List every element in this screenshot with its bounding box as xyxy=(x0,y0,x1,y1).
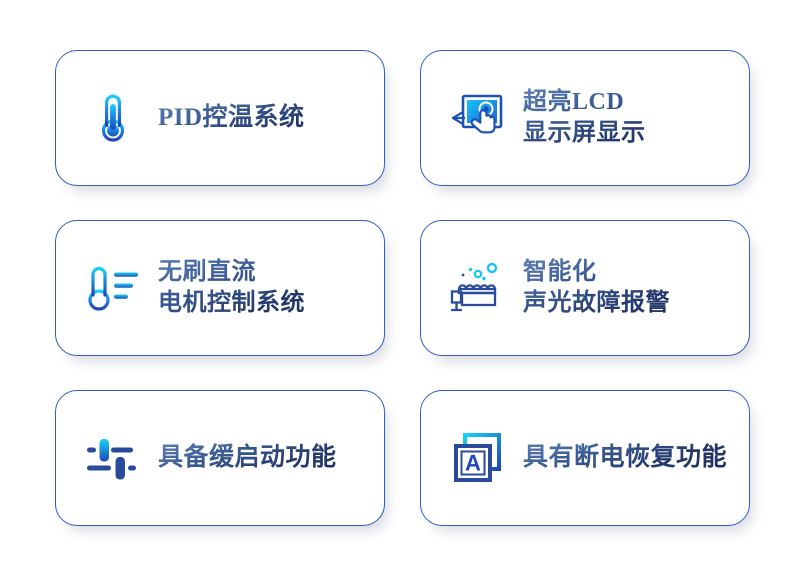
feature-card-label: 超亮LCD 显示屏显示 xyxy=(523,87,749,149)
svg-text:A: A xyxy=(465,451,481,476)
feature-card-label: 具有断电恢复功能 xyxy=(523,442,749,474)
feature-card-label: 具备缓启动功能 xyxy=(158,442,384,474)
feature-card-label: 智能化 声光故障报警 xyxy=(523,257,749,319)
thermometer-lines-icon xyxy=(82,257,144,319)
alarm-light-bar-icon xyxy=(447,257,509,319)
feature-card-brushless-dc-motor-control[interactable]: 无刷直流 电机控制系统 xyxy=(55,220,385,356)
feature-grid: PID控温系统 xyxy=(0,0,800,572)
feature-card-power-outage-recovery[interactable]: A 具有断电恢复功能 xyxy=(420,390,750,526)
letter-a-squares-icon: A xyxy=(447,427,509,489)
feature-card-ultra-bright-lcd-display[interactable]: 超亮LCD 显示屏显示 xyxy=(420,50,750,186)
feature-card-label: 无刷直流 电机控制系统 xyxy=(158,257,384,319)
sliders-icon xyxy=(82,427,144,489)
feature-card-intelligent-audible-visual-alarm[interactable]: 智能化 声光故障报警 xyxy=(420,220,750,356)
feature-card-soft-start-function[interactable]: 具备缓启动功能 xyxy=(55,390,385,526)
feature-card-pid-temperature-control[interactable]: PID控温系统 xyxy=(55,50,385,186)
touchscreen-hand-icon xyxy=(447,87,509,149)
thermometer-filled-icon xyxy=(82,87,144,149)
feature-card-label: PID控温系统 xyxy=(158,102,384,134)
